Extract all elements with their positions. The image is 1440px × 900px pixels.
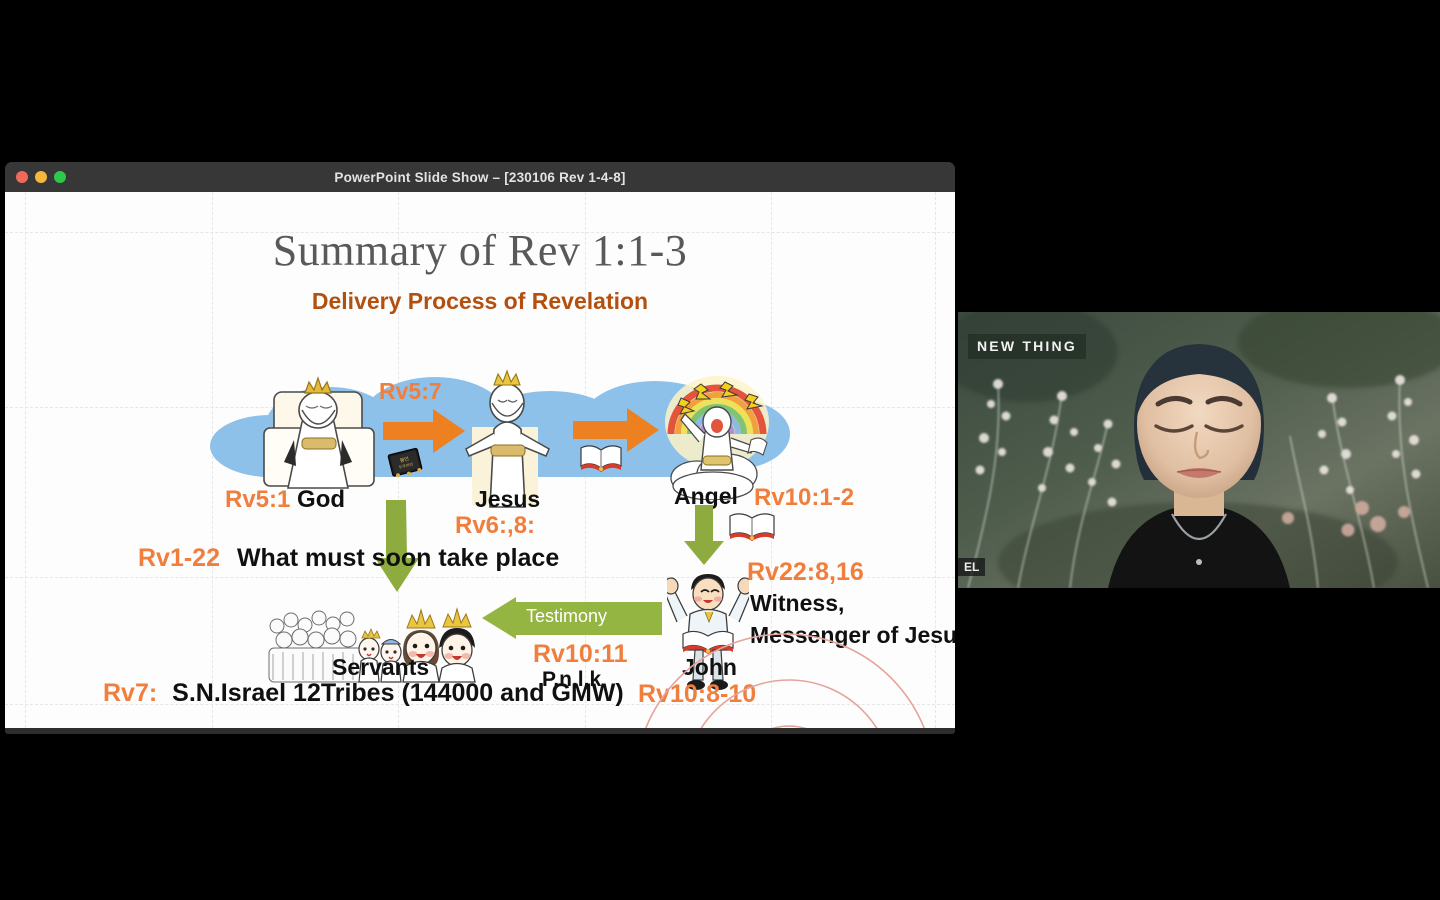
label-israel-tribes: S.N.Israel 12Tribes (144000 and GMW) — [172, 679, 624, 707]
participant-name-overlay: NEW THING — [968, 334, 1086, 359]
label-john: John — [682, 656, 737, 679]
label-what-must-soon-take-place: What must soon take place — [237, 544, 559, 572]
arrow-jesus-to-angel — [573, 408, 659, 452]
label-testimony: Testimony — [526, 606, 607, 627]
arrow-god-to-jesus — [383, 409, 465, 453]
close-icon[interactable] — [16, 171, 28, 183]
god-on-throne-illustration — [250, 370, 385, 505]
testimony-arrow-banner: Testimony — [482, 602, 662, 635]
slide-canvas[interactable]: Summary of Rev 1:1-3 Delivery Process of… — [5, 192, 955, 728]
label-messenger-of-jesus: Messenger of Jesus — [750, 624, 955, 647]
angel-illustration — [655, 370, 780, 500]
label-rv10-11: Rv10:11 — [533, 642, 628, 667]
label-god: God — [297, 486, 345, 513]
powerpoint-slideshow-window[interactable]: PowerPoint Slide Show – [230106 Rev 1-4-… — [5, 162, 955, 734]
label-servants-detail-group: Rv7: S.N.Israel 12Tribes (144000 and GMW… — [103, 681, 624, 706]
label-witness: Witness, — [750, 592, 844, 615]
label-whole-book-group: Rv1-22 What must soon take place — [138, 546, 559, 571]
participant-initials-badge: EL — [958, 558, 985, 576]
open-book-icon-2 — [728, 510, 776, 542]
label-god-group: Rv5:1 God — [225, 488, 345, 512]
minimize-icon[interactable] — [35, 171, 47, 183]
label-rv5-7: Rv5:7 — [379, 380, 442, 403]
label-servants: Servants — [332, 656, 429, 679]
label-rv1-22: Rv1-22 — [138, 544, 220, 572]
slide-subtitle: Delivery Process of Revelation — [5, 288, 955, 315]
slide-title: Summary of Rev 1:1-3 — [5, 225, 955, 276]
window-traffic-lights[interactable] — [16, 171, 66, 183]
window-title: PowerPoint Slide Show – [230106 Rev 1-4-… — [334, 170, 625, 185]
arrow-angel-to-john — [683, 505, 725, 567]
window-titlebar[interactable]: PowerPoint Slide Show – [230106 Rev 1-4-… — [5, 162, 955, 192]
label-rv10-1-2: Rv10:1-2 — [754, 486, 854, 510]
label-jesus: Jesus — [475, 488, 540, 511]
label-rv22-8-16: Rv22:8,16 — [747, 560, 864, 585]
zoom-icon[interactable] — [54, 171, 66, 183]
screen: PowerPoint Slide Show – [230106 Rev 1-4-… — [0, 0, 1440, 900]
label-rv6-8: Rv6:,8: — [455, 514, 535, 538]
label-rv5-1: Rv5:1 — [225, 486, 290, 513]
webcam-video-panel[interactable]: NEW THING EL — [958, 312, 1440, 588]
label-rv10-8-10: Rv10:8-10 — [638, 682, 756, 707]
label-rv7: Rv7: — [103, 679, 157, 707]
